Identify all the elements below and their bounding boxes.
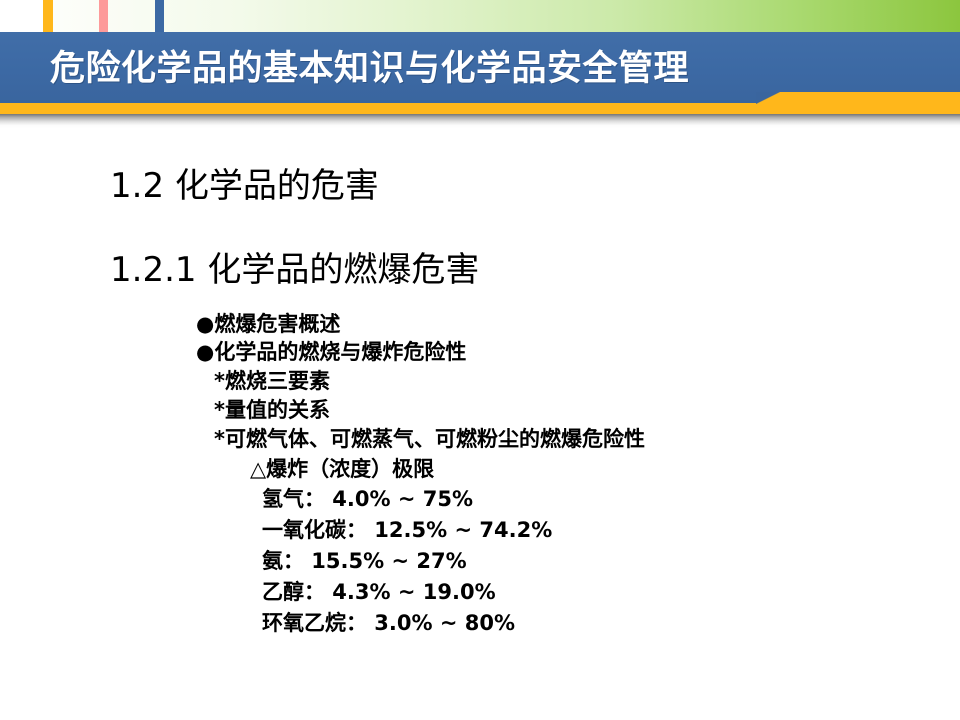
- top-decorative-strip: [0, 0, 960, 32]
- heading-section: 1.2 化学品的危害: [110, 158, 379, 207]
- strip-left-white-block: [0, 0, 43, 32]
- accent-bar-diagonal: [756, 92, 780, 104]
- slide-content: 1.2 化学品的危害 1.2.1 化学品的燃爆危害 ●燃爆危害概述 ●化学品的燃…: [0, 130, 960, 720]
- accent-bar-group: [0, 92, 960, 114]
- limit-row-ethanol: 乙醇： 4.3% ~ 19.0%: [262, 576, 496, 606]
- list-item-star-2: *量值的关系: [214, 394, 330, 424]
- slide-canvas: 危险化学品的基本知识与化学品安全管理 1.2 化学品的危害 1.2.1 化学品的…: [0, 0, 960, 720]
- list-item-triangle-1: △爆炸（浓度）极限: [250, 453, 434, 483]
- list-item-star-3: *可燃气体、可燃蒸气、可燃粉尘的燃爆危险性: [214, 423, 645, 453]
- list-item-bullet-1: ●燃爆危害概述: [196, 308, 340, 338]
- limit-row-hydrogen: 氢气： 4.0% ~ 75%: [262, 483, 473, 513]
- accent-bar-right: [760, 92, 960, 114]
- list-item-bullet-2: ●化学品的燃烧与爆炸危险性: [196, 336, 466, 366]
- limit-row-ethylene-oxide: 环氧乙烷： 3.0% ~ 80%: [262, 607, 515, 637]
- limit-row-ammonia: 氨： 15.5% ~ 27%: [262, 545, 467, 575]
- strip-bar-orange: [43, 0, 53, 32]
- strip-bar-pink: [99, 0, 108, 32]
- slide-title: 危险化学品的基本知识与化学品安全管理: [50, 40, 930, 98]
- list-item-star-1: *燃烧三要素: [214, 365, 330, 395]
- accent-bar-left: [0, 103, 762, 114]
- accent-bar-shadow: [0, 114, 960, 128]
- strip-bar-blue: [155, 0, 164, 32]
- limit-row-carbon-monoxide: 一氧化碳： 12.5% ~ 74.2%: [262, 514, 552, 544]
- heading-subsection: 1.2.1 化学品的燃爆危害: [110, 242, 479, 291]
